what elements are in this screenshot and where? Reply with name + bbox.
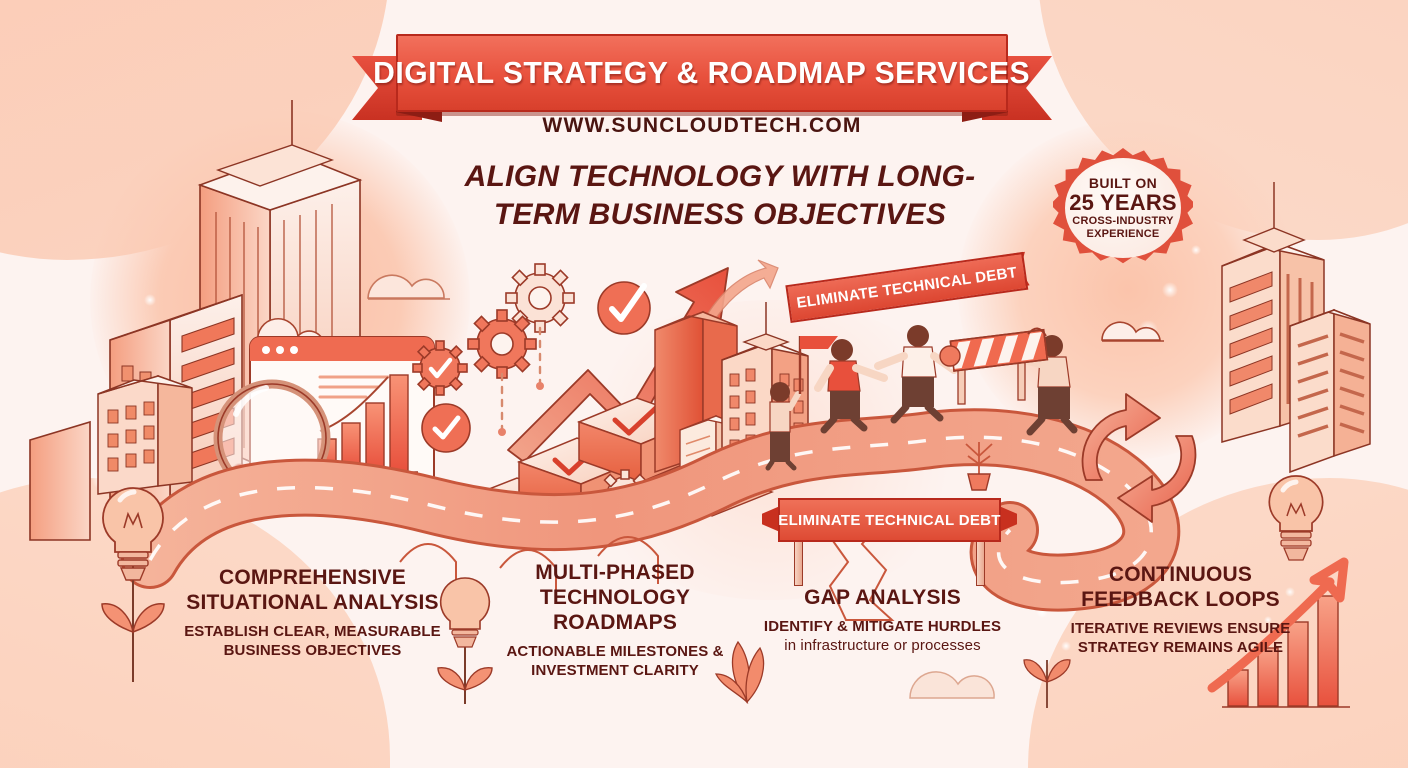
badge-line-1: BUILT ON: [1089, 175, 1157, 191]
road-sign-post-left: [794, 536, 803, 586]
pillar-4-title: CONTINUOUS FEEDBACK LOOPS: [1048, 562, 1313, 612]
road-sign-lower-label: ELIMINATE TECHNICAL DEBT: [778, 512, 1000, 529]
cloud-icon-right: [1092, 300, 1182, 350]
pillar-gap-analysis: GAP ANALYSIS IDENTIFY & MITIGATE HURDLES…: [755, 585, 1010, 655]
title-ribbon: DIGITAL STRATEGY & ROADMAP SERVICES: [352, 34, 1052, 120]
road-sign-lower-body: ELIMINATE TECHNICAL DEBT: [778, 498, 1001, 542]
city-skyline-right: [1182, 196, 1402, 496]
pillar-1-subtitle: ESTABLISH CLEAR, MEASURABLE BUSINESS OBJ…: [175, 622, 450, 660]
cloud-icon-bottom: [900, 648, 1030, 708]
infographic-canvas: DIGITAL STRATEGY & ROADMAP SERVICES WWW.…: [0, 0, 1408, 768]
road-sign-lower: ELIMINATE TECHNICAL DEBT: [772, 498, 1007, 584]
potted-plant-icon: [954, 430, 1004, 492]
pillar-2-title: MULTI-PHASED TECHNOLOGY ROADMAPS: [490, 560, 740, 635]
experience-badge: BUILT ON 25 YEARS CROSS-INDUSTRY EXPERIE…: [1053, 148, 1193, 268]
headline-text: ALIGN TECHNOLOGY WITH LONG-TERM BUSINESS…: [430, 158, 1010, 234]
pillar-2-subtitle: ACTIONABLE MILESTONES & INVESTMENT CLARI…: [490, 642, 740, 680]
lightbulb-plant-icon-left: [88, 470, 178, 700]
barrier-icon: [944, 320, 1054, 406]
website-url: WWW.SUNCLOUDTECH.COM: [352, 114, 1052, 138]
pillar-3-subtitle: IDENTIFY & MITIGATE HURDLES: [755, 617, 1010, 636]
badge-line-2: 25 YEARS: [1069, 191, 1177, 215]
pillar-3-title: GAP ANALYSIS: [755, 585, 1010, 610]
road-sign-post-right: [976, 536, 985, 586]
person-with-flag: [752, 378, 812, 468]
badge-line-4: EXPERIENCE: [1087, 228, 1160, 241]
pillar-1-title: COMPREHENSIVE SITUATIONAL ANALYSIS: [175, 565, 450, 615]
pillar-4-subtitle: ITERATIVE REVIEWS ENSURE STRATEGY REMAIN…: [1048, 619, 1313, 657]
page-title: DIGITAL STRATEGY & ROADMAP SERVICES: [374, 55, 1031, 91]
cloud-icon-center: [360, 250, 480, 310]
title-ribbon-body: DIGITAL STRATEGY & ROADMAP SERVICES: [396, 34, 1008, 112]
pillar-technology-roadmaps: MULTI-PHASED TECHNOLOGY ROADMAPS ACTIONA…: [490, 560, 740, 680]
pillar-situational-analysis: COMPREHENSIVE SITUATIONAL ANALYSIS ESTAB…: [175, 565, 450, 660]
pillar-3-subtitle-secondary: in infrastructure or processes: [755, 636, 1010, 655]
badge-line-3: CROSS-INDUSTRY: [1072, 215, 1173, 228]
pillar-feedback-loops: CONTINUOUS FEEDBACK LOOPS ITERATIVE REVI…: [1048, 562, 1313, 657]
badge-inner: BUILT ON 25 YEARS CROSS-INDUSTRY EXPERIE…: [1065, 158, 1181, 258]
